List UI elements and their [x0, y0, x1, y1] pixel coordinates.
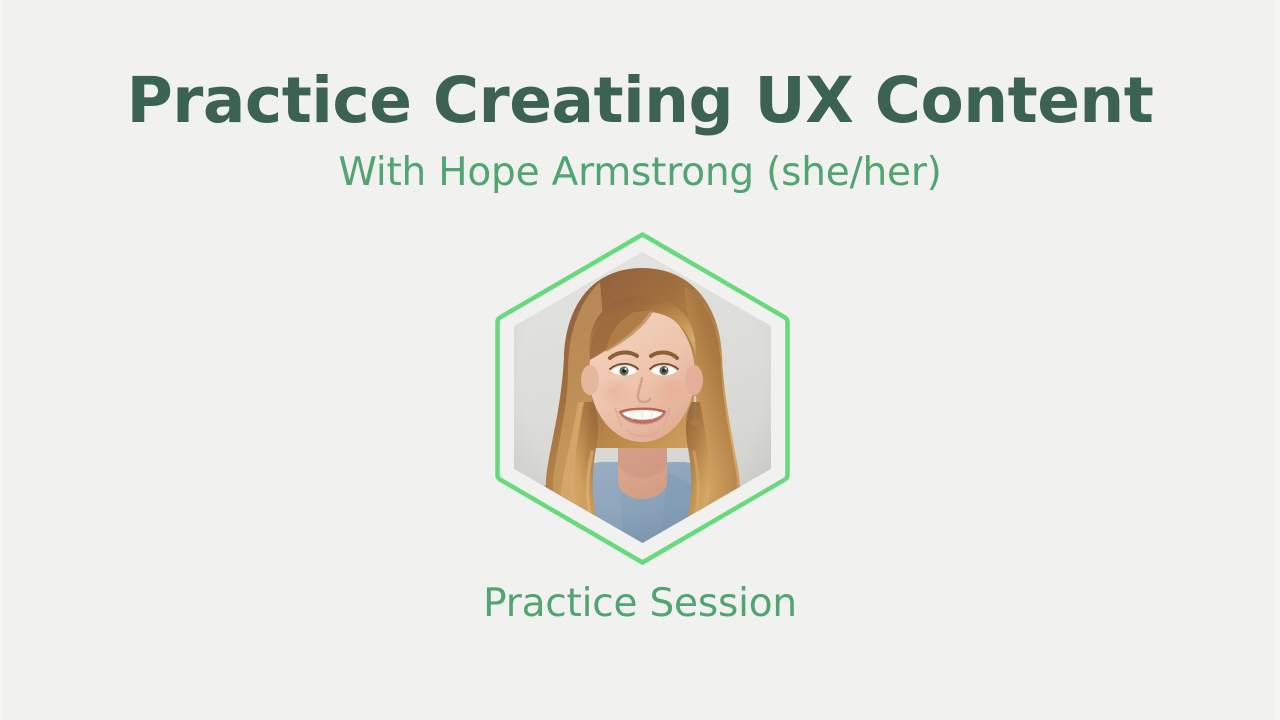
- title-slide: Practice Creating UX Content With Hope A…: [0, 0, 1280, 720]
- presenter-subtitle: With Hope Armstrong (she/her): [338, 151, 941, 196]
- speaker-portrait-frame: [494, 231, 791, 566]
- session-caption: Practice Session: [0, 582, 1280, 627]
- page-title: Practice Creating UX Content: [127, 66, 1154, 137]
